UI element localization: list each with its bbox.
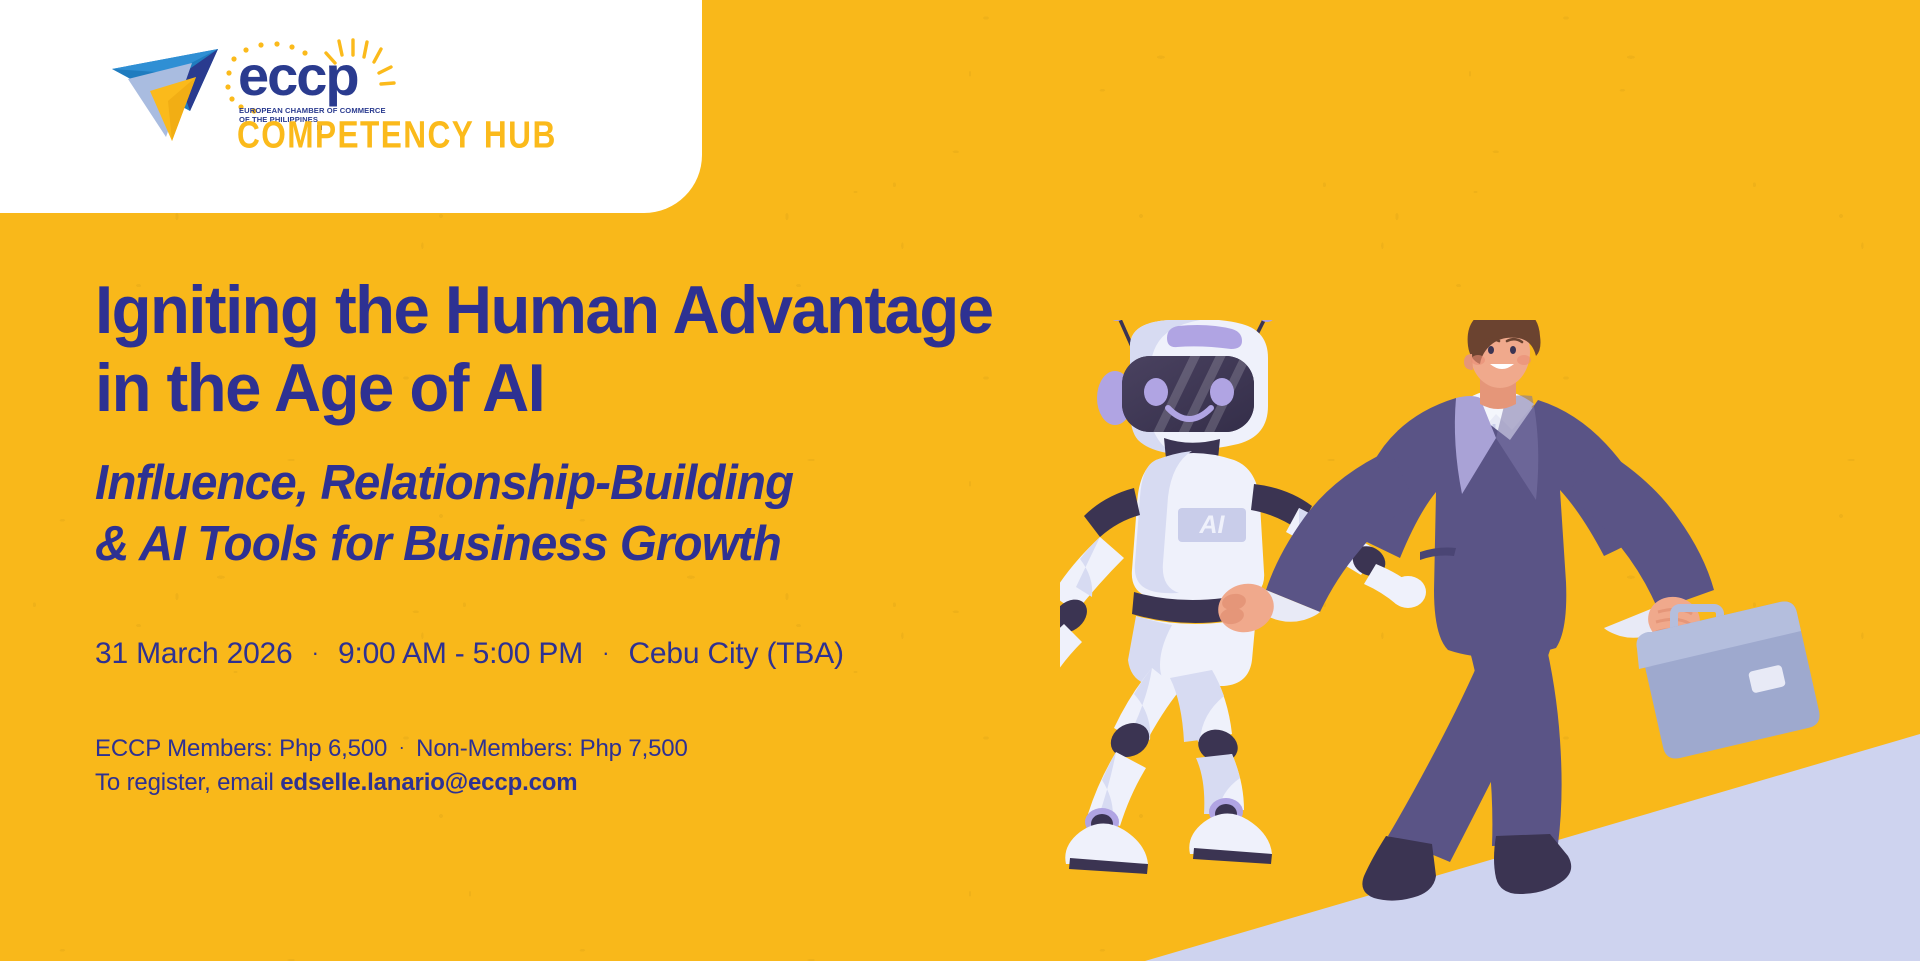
man-collar [1460,390,1534,430]
robot-smile [1168,408,1211,419]
robot-head-plate [1167,325,1242,349]
subheadline-line-2: & AI Tools for Business Growth [95,514,1123,575]
robot-foot [1189,813,1272,854]
man-shirt [1452,402,1534,572]
detail-separator: · [301,640,330,665]
event-date: 31 March 2026 [95,637,293,670]
event-banner: AI [0,0,1920,961]
man-back-shoe [1362,836,1436,901]
robot-reaching-arm [1251,484,1426,608]
man-front-shoe [1494,834,1571,894]
paper-plane-icon [112,49,218,141]
man-smile [1490,364,1514,369]
headline-line-1: Igniting the Human Advantage [95,272,1113,350]
detail-separator: · [591,640,620,665]
man-lapel-right [1496,395,1538,500]
pricing-line: ECCP Members: Php 6,500 · Non-Members: P… [95,732,1155,766]
man-jacket [1342,398,1660,658]
robot-hand [1390,576,1426,608]
member-price: ECCP Members: Php 6,500 [95,735,387,762]
event-copy: Igniting the Human Advantage in the Age … [95,272,1155,800]
competency-hub-wordmark: COMPETENCY HUB [237,114,557,151]
man-ear [1464,354,1473,370]
man-lapel-left [1455,396,1496,494]
event-time: 9:00 AM - 5:00 PM [338,637,583,670]
man-hand-grip [1213,578,1279,638]
pricing-and-registration: ECCP Members: Php 6,500 · Non-Members: P… [95,732,1155,800]
robot-eye-right [1210,378,1234,406]
registration-line: To register, email edselle.lanario@eccp.… [95,766,1155,800]
register-prefix: To register, email [95,769,280,796]
eccp-wordmark: eccp [238,44,358,107]
robot-ai-badge-label: AI [1199,511,1226,539]
man-face [1470,320,1530,388]
briefcase-latch [1748,664,1786,693]
businessman-illustration [1213,320,1820,901]
subheadline-line-1: Influence, Relationship-Building [95,453,1123,514]
man-head [1464,320,1541,409]
logo-card: eccp EUROPEAN CHAMBER OF COMMERCE OF THE… [0,0,702,213]
eccp-competency-hub-logo[interactable]: eccp EUROPEAN CHAMBER OF COMMERCE OF THE… [110,33,590,151]
robot-ai-badge [1178,508,1246,542]
price-separator: · [394,737,410,757]
man-back-leg [1388,626,1552,862]
robot-foot [1065,823,1148,864]
man-neck [1480,376,1516,409]
subheadline-block: Influence, Relationship-Building & AI To… [95,453,1155,575]
man-back-arm [1213,450,1416,638]
event-details: 31 March 2026 · 9:00 AM - 5:00 PM · Cebu… [95,637,1155,671]
non-member-price: Non-Members: Php 7,500 [416,735,688,762]
headline-block: Igniting the Human Advantage in the Age … [95,272,1155,427]
man-hair [1468,320,1541,364]
man-front-arm [1566,448,1714,648]
event-venue: Cebu City (TBA) [628,637,843,670]
briefcase-icon [1636,601,1819,758]
headline-line-2: in the Age of AI [95,350,1113,428]
robot-front-leg [1170,670,1272,864]
hero-illustration: AI [1060,320,1920,961]
robot-neck [1164,438,1220,463]
man-hand-briefcase [1644,592,1704,648]
man-front-leg [1462,620,1562,846]
registration-email-link[interactable]: edselle.lanario@eccp.com [280,769,577,796]
